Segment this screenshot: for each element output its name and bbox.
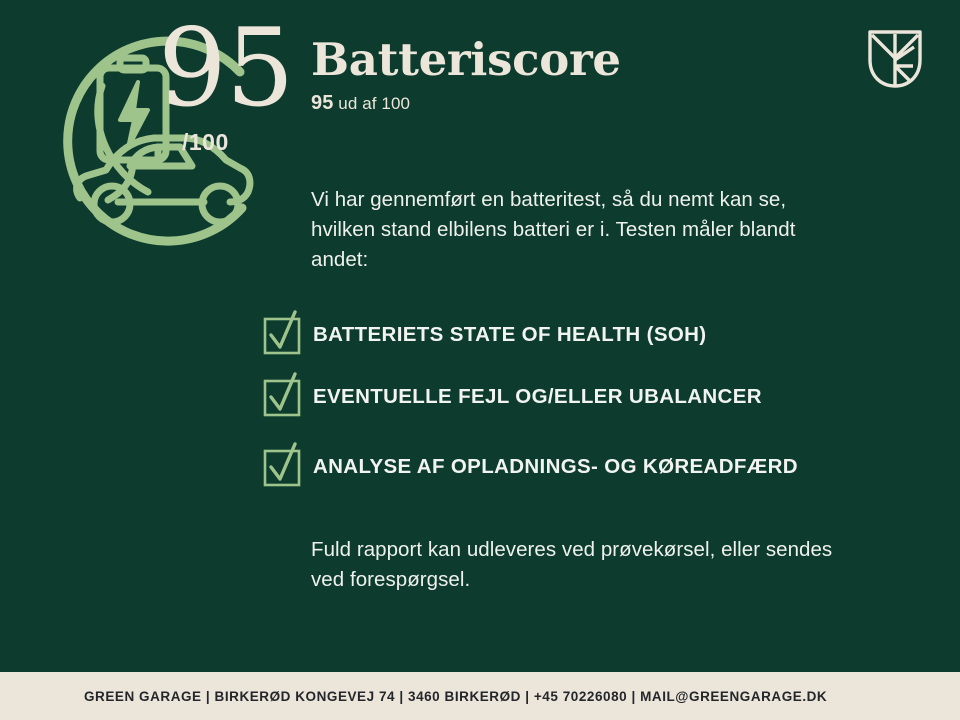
header-block: Batteriscore 95 ud af 100 [311,36,911,113]
footer-contact-text: GREEN GARAGE | BIRKERØD KONGEVEJ 74 | 34… [84,689,827,704]
footer-bar: GREEN GARAGE | BIRKERØD KONGEVEJ 74 | 34… [0,672,960,720]
checkbox-checked-icon [263,315,303,355]
check-mark [271,444,295,479]
score-denominator: /100 [182,131,229,154]
check-mark [271,374,295,409]
checklist-item: ANALYSE AF OPLADNINGS- OG KØREADFÆRD [263,438,883,496]
battery-score-card: 95 /100 Batteriscore 95 ud af 100 Vi har… [0,0,960,720]
page-title: Batteriscore [311,36,911,83]
closing-paragraph: Fuld rapport kan udleveres ved prøvekørs… [311,535,851,595]
score-summary-value: 95 [311,92,333,114]
checklist-item-label: BATTERIETS STATE OF HEALTH (SOH) [313,323,706,347]
score-summary-suffix: ud af 100 [338,94,410,113]
test-checklist: BATTERIETS STATE OF HEALTH (SOH) EVENTUE… [263,306,883,496]
checklist-item: EVENTUELLE FEJL OG/ELLER UBALANCER [263,368,883,426]
checklist-item: BATTERIETS STATE OF HEALTH (SOH) [263,306,883,364]
score-summary: 95 ud af 100 [311,93,911,113]
checklist-item-label: ANALYSE AF OPLADNINGS- OG KØREADFÆRD [313,455,798,479]
checkbox-checked-icon [263,377,303,417]
checklist-item-label: EVENTUELLE FEJL OG/ELLER UBALANCER [313,385,762,409]
check-mark [271,312,295,347]
intro-paragraph: Vi har gennemført en batteritest, så du … [311,185,841,275]
score-value: 95 [158,15,293,123]
checkbox-checked-icon [263,447,303,487]
